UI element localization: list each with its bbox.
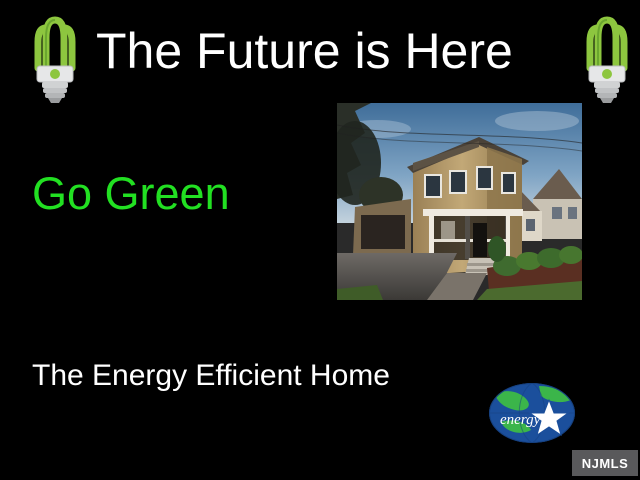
energy-star-wordmark: energy: [500, 412, 541, 428]
tagline-go-green: Go Green: [32, 168, 230, 220]
slide-title: The Future is Here: [96, 22, 566, 80]
slide-subtitle: The Energy Efficient Home: [32, 357, 390, 395]
cfl-bulb-icon: [578, 8, 636, 104]
watermark-njmls: NJMLS: [572, 450, 638, 476]
presentation-slide: The Future is Here Go Green The Energy E…: [0, 0, 640, 480]
house-photo: [337, 103, 582, 300]
cfl-bulb-icon: [26, 8, 84, 104]
energy-star-logo: energy: [487, 382, 577, 444]
